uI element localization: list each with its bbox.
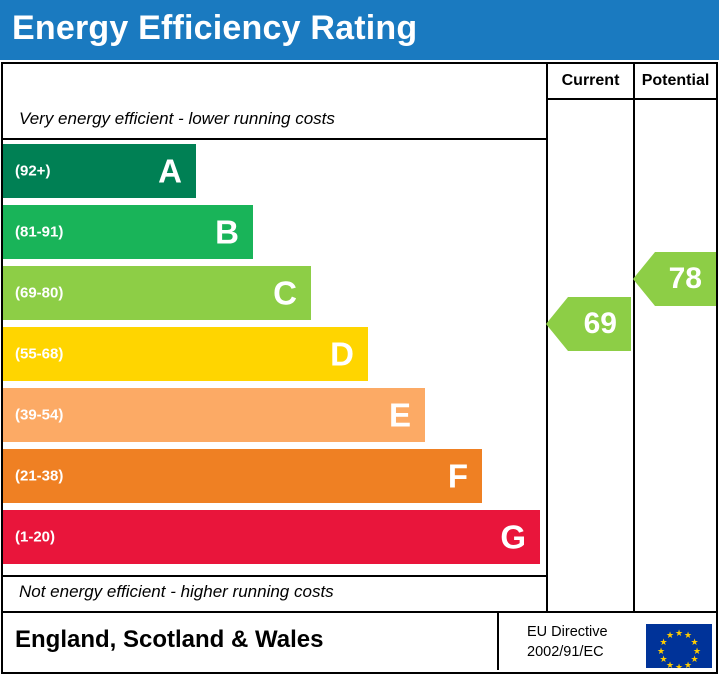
band-a-range: (92+)	[15, 163, 50, 180]
band-b: (81-91) B	[3, 205, 253, 259]
epc-chart: Energy Efficiency Rating Current Potenti…	[0, 0, 719, 675]
column-header-potential-label: Potential	[642, 72, 710, 90]
caption-inefficient: Not energy efficient - higher running co…	[19, 582, 334, 602]
band-f-range: (21-38)	[15, 468, 63, 485]
eu-directive-text: EU Directive 2002/91/EC	[527, 623, 608, 662]
potential-rating-value: 78	[669, 262, 702, 296]
column-divider-current	[546, 100, 548, 611]
caption-efficient: Very energy efficient - lower running co…	[19, 109, 335, 129]
band-a-letter: A	[158, 155, 182, 188]
band-f: (21-38) F	[3, 449, 482, 503]
band-g: (1-20) G	[3, 510, 540, 564]
eu-directive-line2: 2002/91/EC	[527, 643, 608, 663]
band-g-range: (1-20)	[15, 529, 55, 546]
band-c-range: (69-80)	[15, 285, 63, 302]
band-e-range: (39-54)	[15, 407, 63, 424]
eu-directive-line1: EU Directive	[527, 623, 608, 643]
current-rating-marker: 69	[568, 297, 631, 351]
caption-bottom-divider	[3, 575, 546, 577]
column-header-current-label: Current	[562, 72, 620, 90]
band-g-letter: G	[500, 521, 526, 554]
potential-marker-arrow	[633, 252, 655, 306]
chart-frame: Current Potential Very energy efficient …	[1, 62, 718, 613]
band-d-range: (55-68)	[15, 346, 63, 363]
title-bar: Energy Efficiency Rating	[0, 0, 719, 60]
caption-top-divider	[3, 138, 546, 140]
footer-region-label: England, Scotland & Wales	[15, 626, 323, 654]
current-marker-arrow	[546, 297, 568, 351]
column-header-current: Current	[546, 64, 633, 100]
band-e: (39-54) E	[3, 388, 425, 442]
band-d: (55-68) D	[3, 327, 368, 381]
band-b-letter: B	[215, 216, 239, 249]
footer-bar: England, Scotland & Wales EU Directive 2…	[1, 613, 718, 674]
page-title: Energy Efficiency Rating	[12, 9, 417, 48]
band-a: (92+) A	[3, 144, 196, 198]
band-b-range: (81-91)	[15, 224, 63, 241]
band-c-letter: C	[273, 277, 297, 310]
column-header-potential: Potential	[633, 64, 716, 100]
potential-rating-marker: 78	[655, 252, 716, 306]
current-rating-value: 69	[584, 307, 617, 341]
eu-flag-icon: ★ ★ ★ ★ ★ ★ ★ ★ ★ ★ ★ ★	[646, 624, 712, 668]
band-c: (69-80) C	[3, 266, 311, 320]
footer-divider	[497, 613, 499, 670]
column-divider-potential	[633, 100, 635, 611]
band-e-letter: E	[389, 399, 411, 432]
band-d-letter: D	[330, 338, 354, 371]
band-f-letter: F	[448, 460, 468, 493]
